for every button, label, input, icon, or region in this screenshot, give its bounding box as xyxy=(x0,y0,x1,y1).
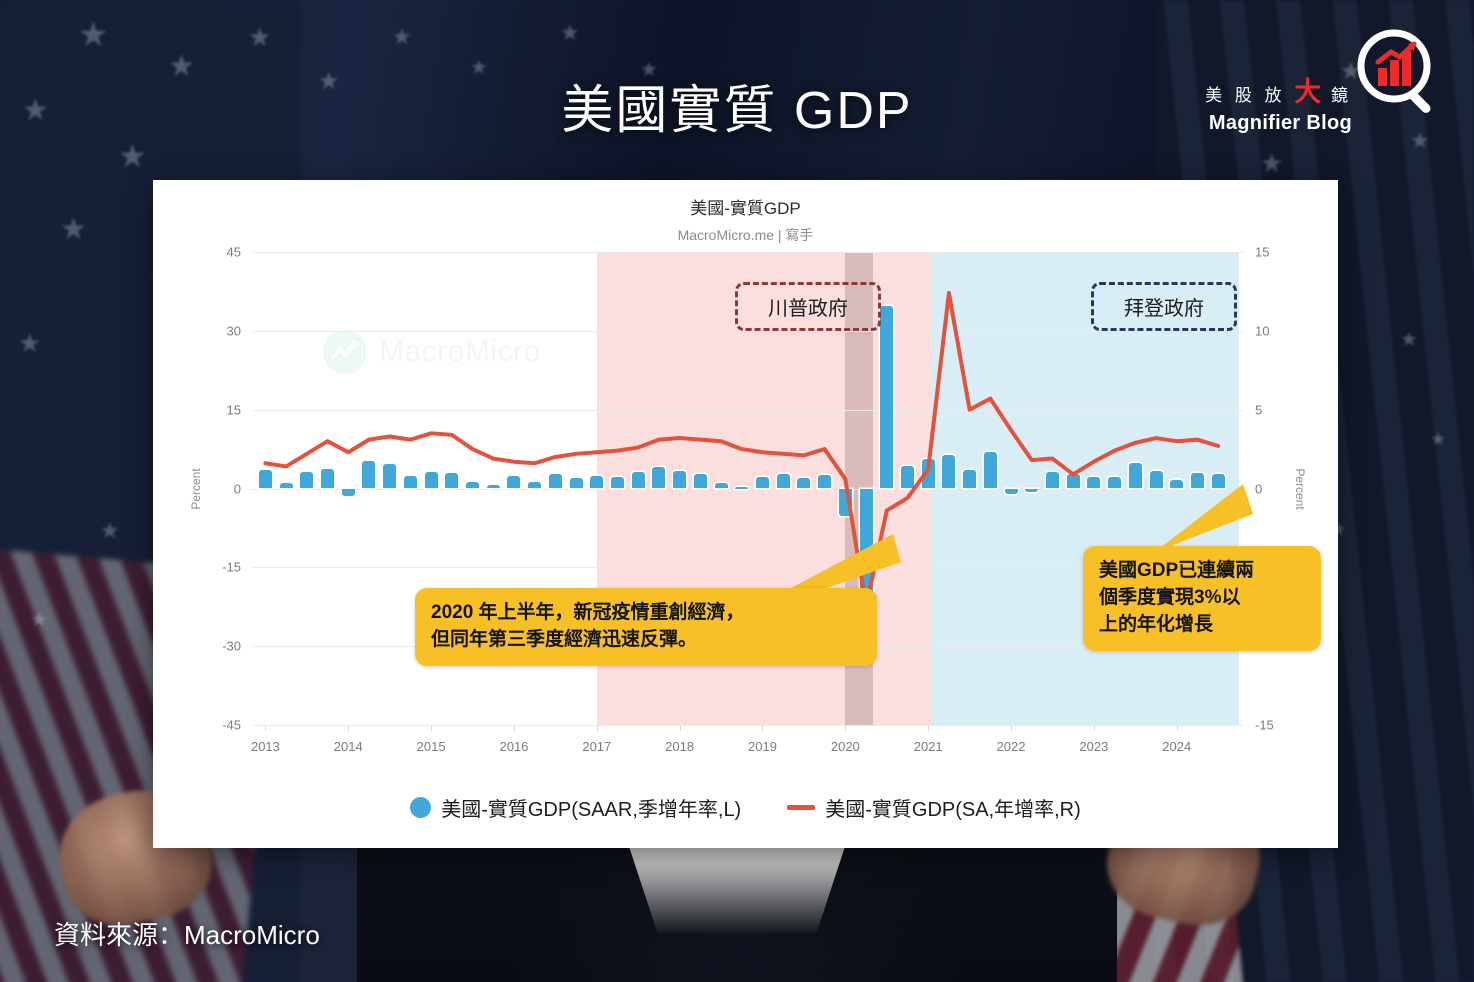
star-icon: ★ xyxy=(30,610,48,630)
growth-callout: 美國GDP已連續兩 個季度實現3%以 上的年化增長 xyxy=(1083,546,1321,651)
y-tick-left: -30 xyxy=(222,639,241,654)
x-tick-mark xyxy=(1177,725,1178,731)
legend-item-0[interactable]: 美國-實質GDP(SAAR,季增年率,L) xyxy=(410,793,741,822)
brand-title-en: Magnifier Blog xyxy=(1205,112,1352,135)
magnifier-bar-chart-icon xyxy=(1350,24,1450,124)
legend-marker-bar-icon xyxy=(410,797,431,818)
x-tick-mark xyxy=(762,725,763,731)
y-axis-label-left: Percent xyxy=(189,468,203,509)
x-tick-label: 2020 xyxy=(831,739,860,754)
star-icon: ★ xyxy=(18,330,41,356)
brand-logo: 美 股 放 大 鏡 Magnifier Blog xyxy=(1210,18,1450,124)
x-tick-label: 2017 xyxy=(582,739,611,754)
brand-text: 美 股 放 大 鏡 Magnifier Blog xyxy=(1205,70,1352,135)
star-icon: ★ xyxy=(78,18,108,52)
x-tick-label: 2014 xyxy=(334,739,363,754)
x-tick-label: 2015 xyxy=(417,739,446,754)
y-axis-label-right: Percent xyxy=(1293,468,1307,509)
y-tick-left: 30 xyxy=(227,323,241,338)
brand-title-cn: 美 股 放 大 鏡 xyxy=(1205,70,1352,109)
source-note: 資料來源：MacroMicro xyxy=(54,915,320,952)
brand-cn-part1: 美 股 放 xyxy=(1205,86,1294,105)
star-icon: ★ xyxy=(1400,330,1418,350)
legend-label: 美國-實質GDP(SAAR,季增年率,L) xyxy=(441,793,741,822)
x-tick-mark xyxy=(1011,725,1012,731)
legend-item-1[interactable]: 美國-實質GDP(SA,年增率,R) xyxy=(787,793,1081,822)
star-icon: ★ xyxy=(60,215,87,245)
x-tick-label: 2024 xyxy=(1162,739,1191,754)
y-tick-right: 0 xyxy=(1255,481,1262,496)
chart-panel: 美國-實質GDP MacroMicro.me | 寫手 MacroMicro P… xyxy=(153,180,1338,848)
chart-title: 美國-實質GDP xyxy=(153,194,1338,219)
y-tick-right: 15 xyxy=(1255,245,1269,260)
y-tick-left: -15 xyxy=(222,560,241,575)
x-tick-label: 2018 xyxy=(665,739,694,754)
y-tick-left: 0 xyxy=(234,481,241,496)
x-tick-label: 2013 xyxy=(251,739,280,754)
x-tick-label: 2016 xyxy=(499,739,528,754)
star-icon: ★ xyxy=(1430,430,1446,448)
y-tick-right: 10 xyxy=(1255,323,1269,338)
covid-callout: 2020 年上半年，新冠疫情重創經濟， 但同年第三季度經濟迅速反彈。 xyxy=(415,588,877,666)
legend-label: 美國-實質GDP(SA,年增率,R) xyxy=(825,793,1081,822)
star-icon: ★ xyxy=(392,26,412,48)
chart-legend: 美國-實質GDP(SAAR,季增年率,L)美國-實質GDP(SA,年增率,R) xyxy=(153,793,1338,822)
chart-subtitle: MacroMicro.me | 寫手 xyxy=(153,225,1338,245)
x-tick-mark xyxy=(928,725,929,731)
x-tick-label: 2019 xyxy=(748,739,777,754)
x-tick-mark xyxy=(265,725,266,731)
x-tick-label: 2021 xyxy=(914,739,943,754)
y-tick-left: 15 xyxy=(227,402,241,417)
x-tick-mark xyxy=(1094,725,1095,731)
star-icon: ★ xyxy=(248,24,271,50)
y-tick-left: -45 xyxy=(222,718,241,733)
plot-area: MacroMicro Percent Percent 4530150-15-30… xyxy=(253,252,1243,725)
x-tick-mark xyxy=(431,725,432,731)
x-tick-label: 2022 xyxy=(997,739,1026,754)
brand-cn-part2: 鏡 xyxy=(1322,86,1352,105)
x-tick-mark xyxy=(348,725,349,731)
legend-marker-line-icon xyxy=(787,805,815,810)
x-tick-mark xyxy=(680,725,681,731)
x-tick-mark xyxy=(845,725,846,731)
star-icon: ★ xyxy=(118,140,147,172)
x-tick-mark xyxy=(514,725,515,731)
x-tick-mark xyxy=(597,725,598,731)
star-icon: ★ xyxy=(100,520,120,542)
star-icon: ★ xyxy=(560,22,580,44)
star-icon: ★ xyxy=(1260,150,1283,176)
brand-cn-accent: 大 xyxy=(1294,77,1322,107)
x-tick-label: 2023 xyxy=(1079,739,1108,754)
y-tick-left: 45 xyxy=(227,245,241,260)
y-tick-right: 5 xyxy=(1255,402,1262,417)
y-tick-right: -15 xyxy=(1255,718,1274,733)
